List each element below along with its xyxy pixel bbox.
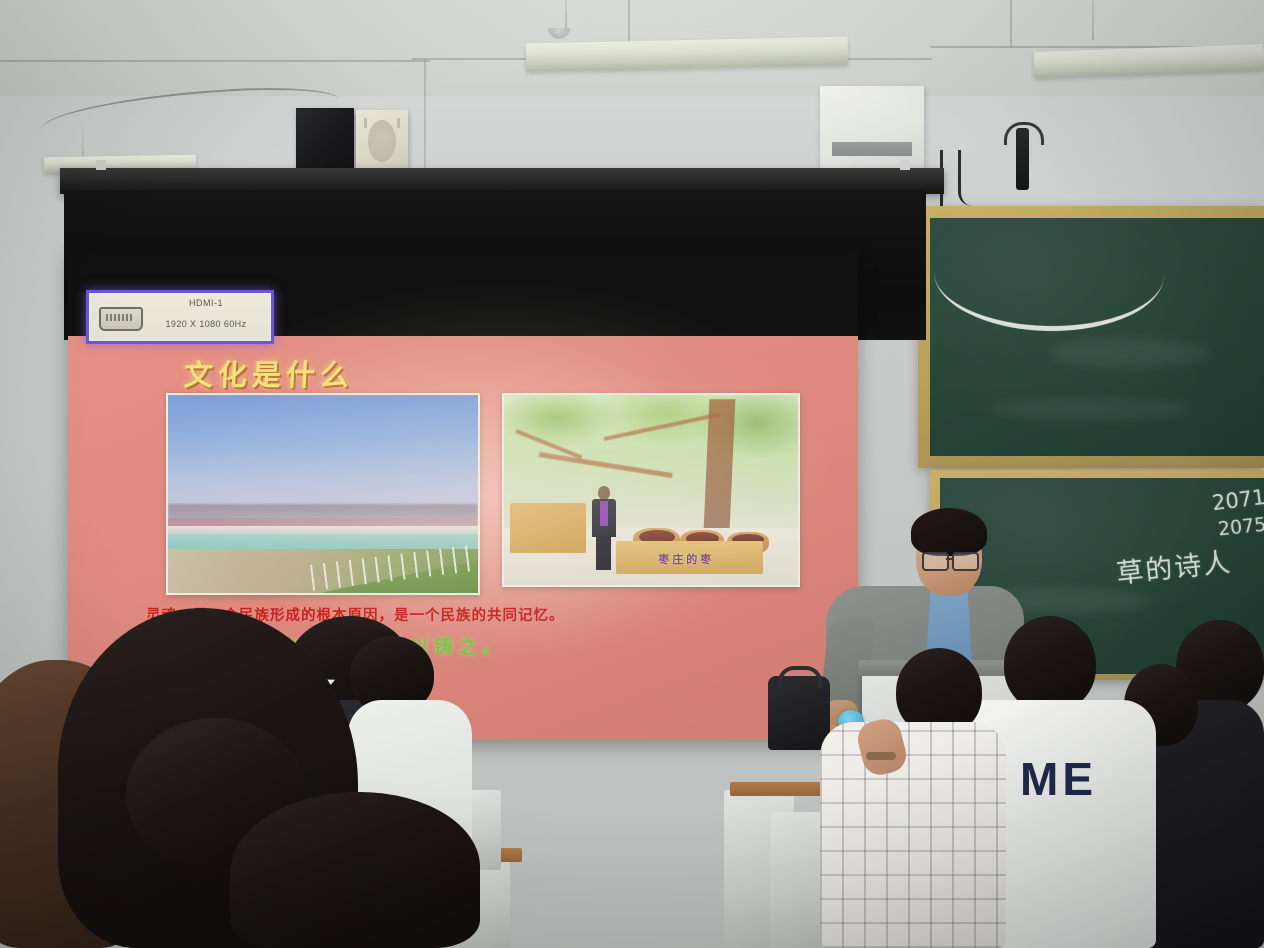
person-scarf <box>600 501 608 526</box>
wall-seam <box>424 58 426 170</box>
ceiling-seam <box>0 60 430 62</box>
student-shirt <box>820 722 1006 948</box>
student-hair <box>230 792 480 948</box>
hdmi-port-icon <box>99 307 143 331</box>
screen-bracket <box>900 160 910 170</box>
lecturer-hair <box>911 508 987 556</box>
lecturer-glasses-left-lens <box>922 552 949 571</box>
student-hair <box>1004 616 1096 712</box>
lecturer-glasses-right-lens <box>952 552 979 571</box>
chalk-smudge <box>990 398 1190 420</box>
chalk-smudge <box>1050 338 1210 368</box>
person-head <box>598 486 610 499</box>
hanging-device <box>1016 128 1029 190</box>
lamp-rod <box>1092 0 1094 40</box>
sky <box>168 395 478 518</box>
slide-photo-jujube-market: 枣庄的枣 <box>502 393 800 587</box>
equipment-vent <box>832 142 912 156</box>
chalk-note-number-2: 2075 <box>1217 514 1264 541</box>
speaker-slit <box>397 118 400 128</box>
speaker-cone <box>368 120 396 162</box>
wall-cable <box>958 150 1001 206</box>
slide-title: 文化是什么 <box>183 352 355 394</box>
speaker-slit <box>364 118 367 128</box>
beige-wall-speaker <box>356 110 408 170</box>
market-sign-text: 枣庄的枣 <box>619 549 754 570</box>
black-wall-speaker <box>296 108 354 170</box>
projector-osd-overlay: HDMI-1 1920 X 1080 60Hz <box>86 290 274 344</box>
person-legs <box>596 536 611 569</box>
screen-bracket <box>96 160 106 170</box>
osd-resolution-label: 1920 X 1080 60Hz <box>145 319 267 329</box>
lecturer-glasses-bridge <box>946 558 954 560</box>
market-stall <box>510 503 586 552</box>
osd-input-label: HDMI-1 <box>145 298 267 308</box>
slide-photo-river-landscape <box>166 393 480 595</box>
bag-handle <box>778 666 822 688</box>
wrist-band <box>866 752 896 760</box>
tree-canopy <box>504 395 798 500</box>
distant-treeline <box>168 504 478 528</box>
classroom-photo: 2071 2075 草的诗人 HDMI-1 1920 X 1080 60Hz 文… <box>0 0 1264 948</box>
student-shirt-text: ME <box>1020 752 1097 806</box>
wall-seam <box>1010 0 1012 48</box>
market-person <box>592 486 616 570</box>
